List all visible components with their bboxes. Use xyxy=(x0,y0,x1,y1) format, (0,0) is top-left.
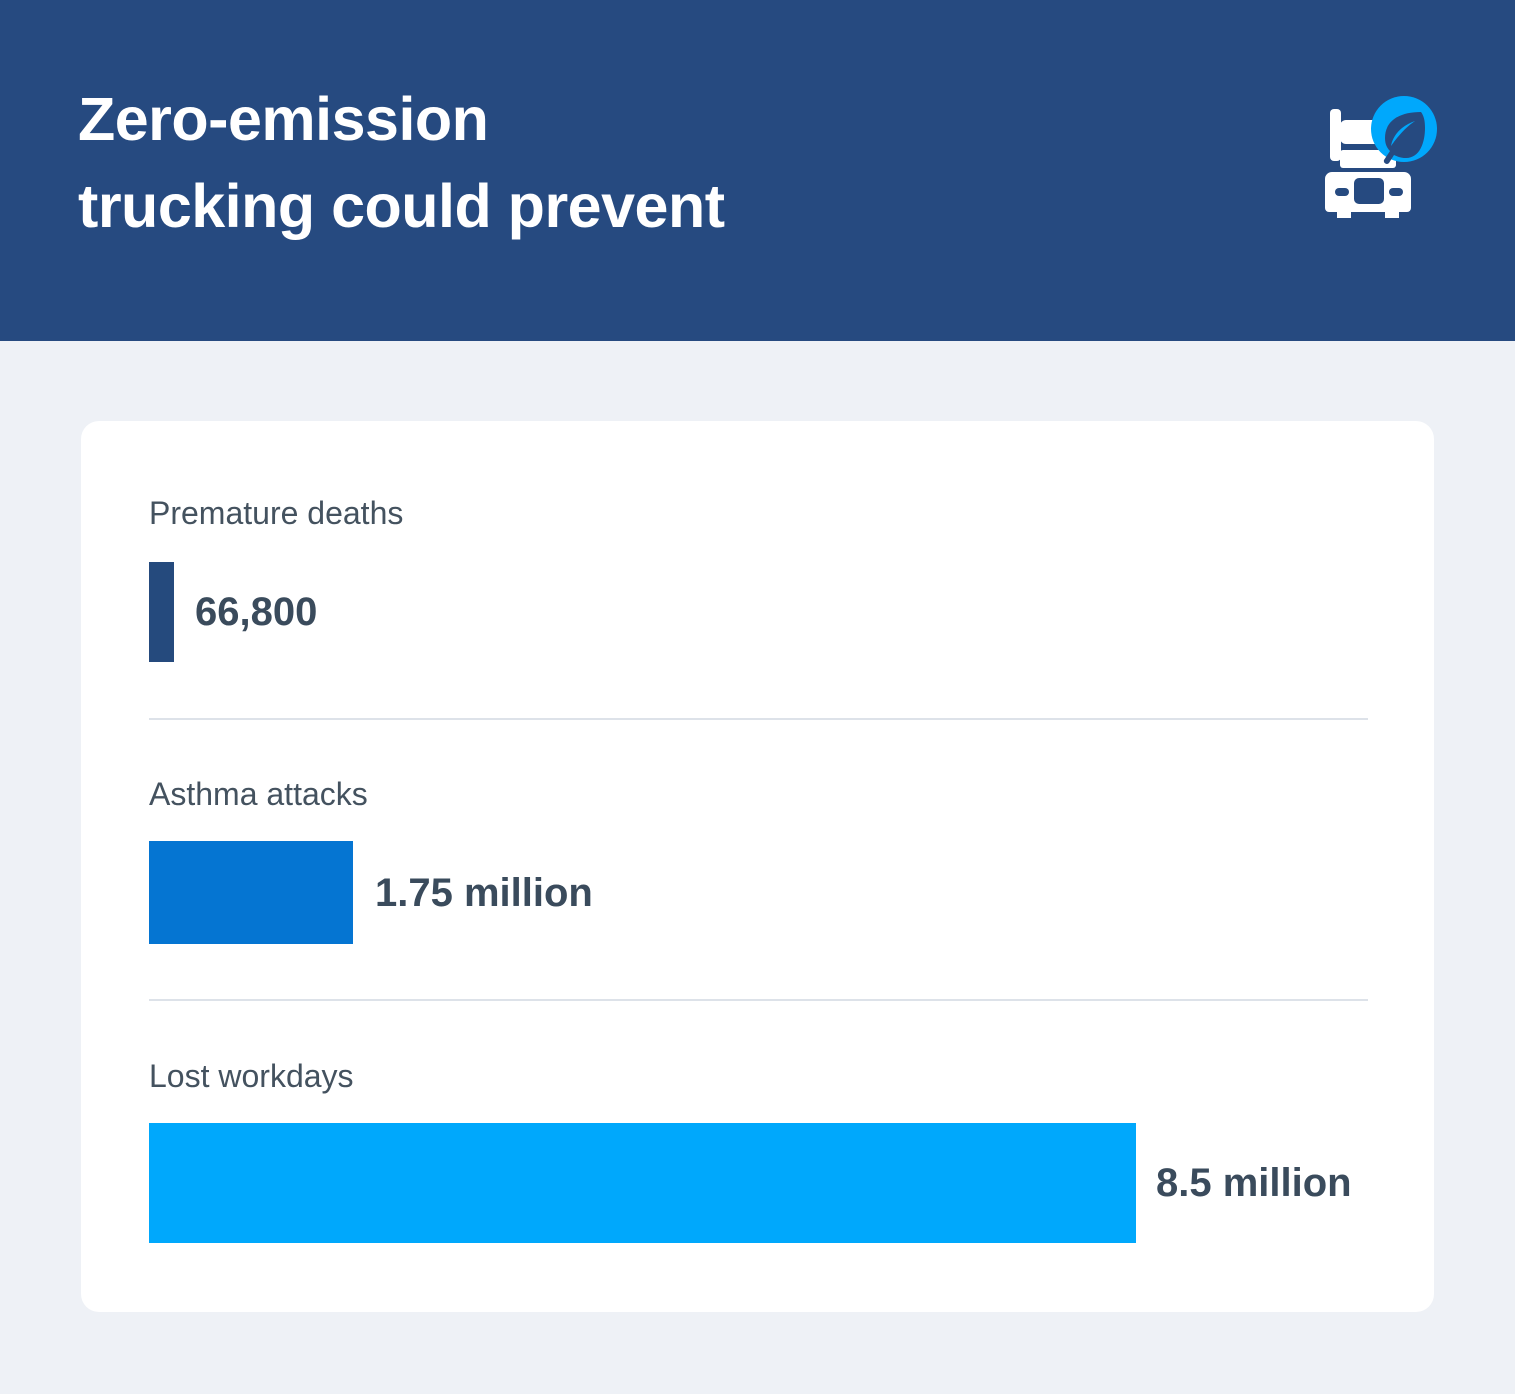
bar-asthma-attacks xyxy=(149,841,353,944)
stat-label: Asthma attacks xyxy=(149,778,368,810)
stats-card: Premature deaths 66,800 Asthma attacks 1… xyxy=(81,421,1434,1312)
row-divider xyxy=(149,999,1368,1001)
stat-label: Premature deaths xyxy=(149,497,403,529)
stat-bar-line: 1.75 million xyxy=(149,841,593,944)
stat-value: 8.5 million xyxy=(1156,1163,1352,1203)
infographic-page: Zero-emission trucking could prevent xyxy=(0,0,1515,1394)
bar-lost-workdays xyxy=(149,1123,1136,1243)
page-title: Zero-emission trucking could prevent xyxy=(78,76,725,249)
stat-value: 1.75 million xyxy=(375,873,593,913)
stat-bar-line: 8.5 million xyxy=(149,1123,1352,1243)
header-banner: Zero-emission trucking could prevent xyxy=(0,0,1515,341)
truck-leaf-icon xyxy=(1313,96,1437,220)
stat-bar-line: 66,800 xyxy=(149,562,317,662)
stat-value: 66,800 xyxy=(195,592,317,632)
row-divider xyxy=(149,718,1368,720)
stat-label: Lost workdays xyxy=(149,1060,354,1092)
bar-premature-deaths xyxy=(149,562,174,662)
